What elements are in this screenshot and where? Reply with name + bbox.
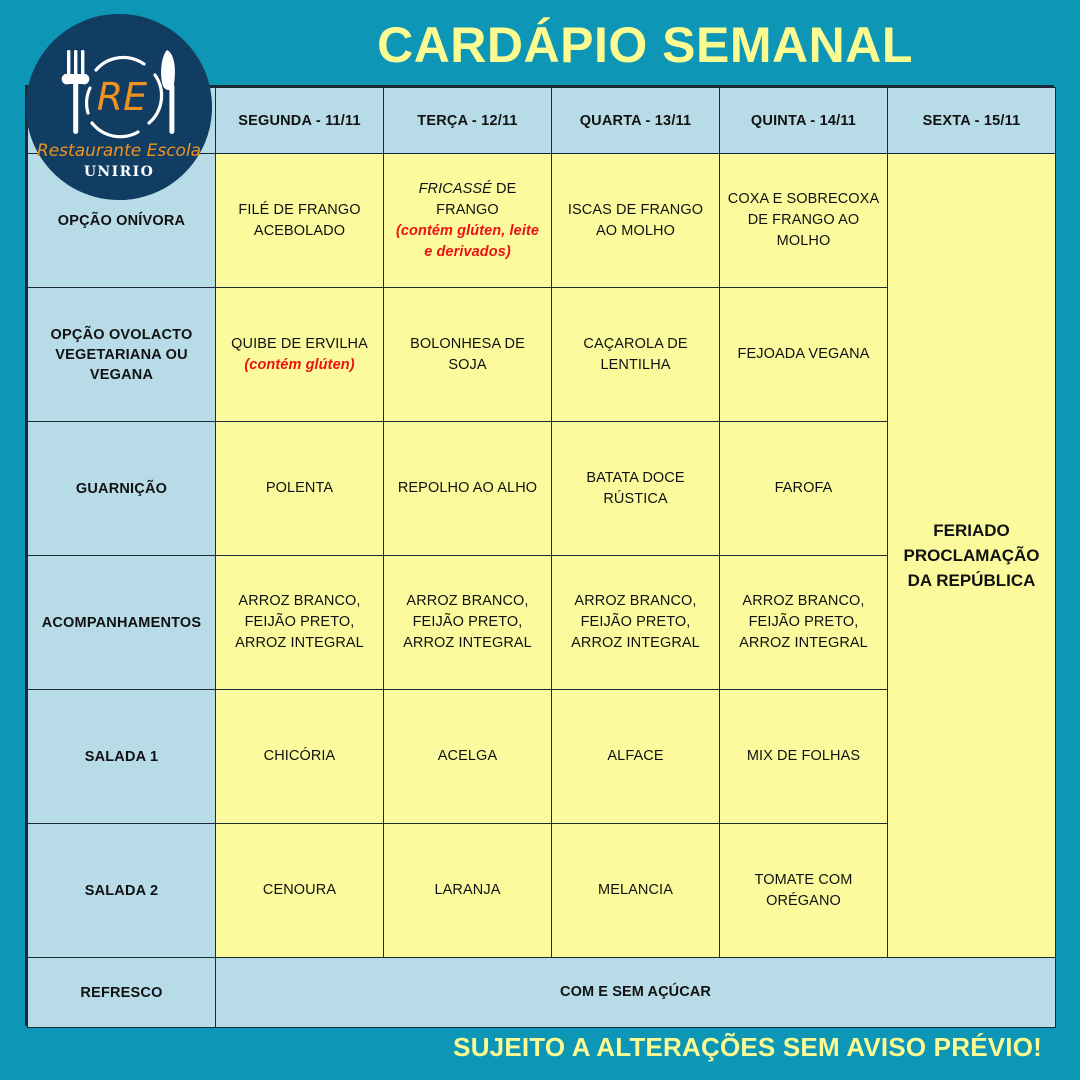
cell-vegetariana-segunda: QUIBE DE ERVILHA (contém glúten) — [216, 288, 384, 422]
cell-onivora-quarta: ISCAS DE FRANGO AO MOLHO — [552, 154, 720, 288]
cell-salada2-quinta: TOMATE COM ORÉGANO — [720, 824, 888, 958]
cell-vegetariana-terca: BOLONHESA DE SOJA — [384, 288, 552, 422]
menu-poster: RE Restaurante Escola UNIRIO CARDÁPIO SE… — [0, 0, 1080, 1080]
cell-acompanhamentos-quarta: ARROZ BRANCO, FEIJÃO PRETO, ARROZ INTEGR… — [552, 556, 720, 690]
dish-text: BOLONHESA DE SOJA — [410, 336, 525, 373]
cell-salada2-quarta: MELANCIA — [552, 824, 720, 958]
cell-guarnicao-segunda: POLENTA — [216, 422, 384, 556]
dish-text: COXA E SOBRECOXA DE FRANGO AO MOLHO — [728, 191, 879, 249]
logo-name: Restaurante Escola — [37, 141, 201, 161]
cell-acompanhamentos-quinta: ARROZ BRANCO, FEIJÃO PRETO, ARROZ INTEGR… — [720, 556, 888, 690]
cell-vegetariana-quarta: CAÇAROLA DE LENTILHA — [552, 288, 720, 422]
cell-salada1-quinta: MIX DE FOLHAS — [720, 690, 888, 824]
table-row: REFRESCO COM E SEM AÇÚCAR — [28, 958, 1056, 1028]
logo-institution: UNIRIO — [84, 164, 154, 180]
cell-onivora-terca: FRICASSÉ DE FRANGO (contém glúten, leite… — [384, 154, 552, 288]
dish-text: QUIBE DE ERVILHA — [231, 336, 368, 352]
row-label-guarnicao: GUARNIÇÃO — [28, 422, 216, 556]
cell-guarnicao-terca: REPOLHO AO ALHO — [384, 422, 552, 556]
cell-salada2-terca: LARANJA — [384, 824, 552, 958]
row-label-refresco: REFRESCO — [28, 958, 216, 1028]
day-header-segunda: SEGUNDA - 11/11 — [216, 88, 384, 154]
day-header-terca: TERÇA - 12/11 — [384, 88, 552, 154]
dish-text: FEJOADA VEGANA — [738, 346, 870, 362]
dish-text: CAÇAROLA DE LENTILHA — [583, 336, 687, 373]
day-header-sexta: SEXTA - 15/11 — [888, 88, 1056, 154]
cell-salada1-quarta: ALFACE — [552, 690, 720, 824]
cell-salada1-segunda: CHICÓRIA — [216, 690, 384, 824]
weekly-menu-table: SEGUNDA - 11/11 TERÇA - 12/11 QUARTA - 1… — [25, 85, 1054, 1026]
row-label-opcao-vegetariana: OPÇÃO OVOLACTO VEGETARIANA OU VEGANA — [28, 288, 216, 422]
cell-onivora-quinta: COXA E SOBRECOXA DE FRANGO AO MOLHO — [720, 154, 888, 288]
cell-refresco-merged: COM E SEM AÇÚCAR — [216, 958, 1056, 1028]
row-label-acompanhamentos: ACOMPANHAMENTOS — [28, 556, 216, 690]
day-header-quinta: QUINTA - 14/11 — [720, 88, 888, 154]
dish-text: ISCAS DE FRANGO AO MOLHO — [568, 202, 703, 239]
logo-initials: RE — [97, 75, 147, 119]
allergen-note: (contém glúten) — [222, 355, 377, 376]
cell-onivora-segunda: FILÉ DE FRANGO ACEBOLADO — [216, 154, 384, 288]
row-label-salada-1: SALADA 1 — [28, 690, 216, 824]
cell-salada1-terca: ACELGA — [384, 690, 552, 824]
cell-guarnicao-quarta: BATATA DOCE RÚSTICA — [552, 422, 720, 556]
page-title: CARDÁPIO SEMANAL — [215, 16, 1075, 74]
cell-acompanhamentos-segunda: ARROZ BRANCO, FEIJÃO PRETO, ARROZ INTEGR… — [216, 556, 384, 690]
cell-salada2-segunda: CENOURA — [216, 824, 384, 958]
dish-text: FILÉ DE FRANGO ACEBOLADO — [238, 202, 360, 239]
cell-holiday-sexta: FERIADO PROCLAMAÇÃO DA REPÚBLICA — [888, 154, 1056, 958]
dish-text-italic: FRICASSÉ — [419, 181, 492, 197]
row-label-salada-2: SALADA 2 — [28, 824, 216, 958]
restaurante-escola-logo: RE Restaurante Escola UNIRIO — [26, 14, 212, 200]
cell-vegetariana-quinta: FEJOADA VEGANA — [720, 288, 888, 422]
allergen-note: (contém glúten, leite e derivados) — [390, 221, 545, 263]
logo-graphic: RE Restaurante Escola UNIRIO — [26, 14, 212, 200]
day-header-quarta: QUARTA - 13/11 — [552, 88, 720, 154]
cell-acompanhamentos-terca: ARROZ BRANCO, FEIJÃO PRETO, ARROZ INTEGR… — [384, 556, 552, 690]
disclaimer-text: SUJEITO A ALTERAÇÕES SEM AVISO PRÉVIO! — [0, 1032, 1080, 1063]
cell-guarnicao-quinta: FAROFA — [720, 422, 888, 556]
